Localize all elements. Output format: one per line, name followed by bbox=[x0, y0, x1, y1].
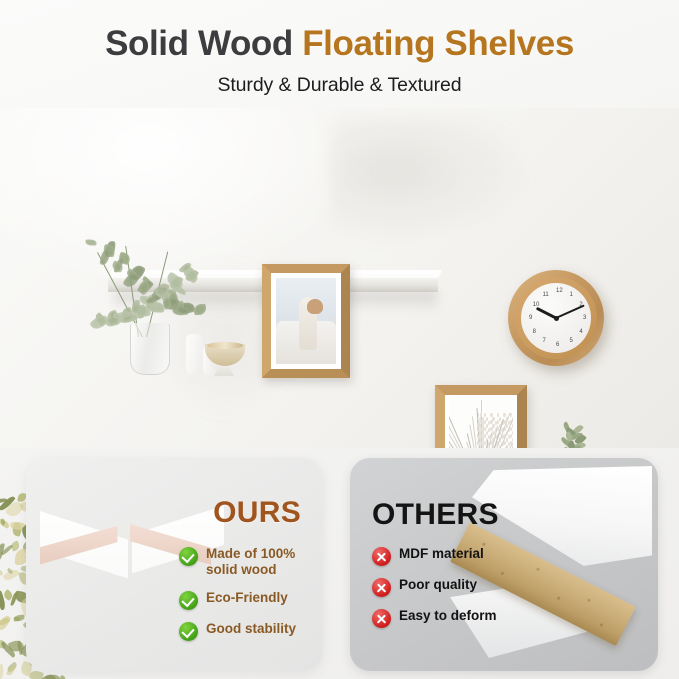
ours-bullet-text: Made of 100% solid wood bbox=[206, 546, 307, 579]
comparison-section: OURS Made of 100% solid wood Eco-Friendl… bbox=[0, 450, 679, 679]
green-check-icon bbox=[179, 622, 198, 641]
clock-hour-number: 3 bbox=[583, 315, 586, 321]
clock-hour-number: 7 bbox=[543, 338, 546, 344]
list-item: MDF material bbox=[372, 546, 532, 566]
tall-glass-vase bbox=[130, 323, 170, 375]
ours-benefit-list: Made of 100% solid wood Eco-Friendly Goo… bbox=[179, 546, 307, 652]
wooden-wall-clock: 121234567891011 bbox=[508, 270, 604, 366]
headline-part-primary: Solid Wood bbox=[105, 24, 302, 63]
clock-hour-number: 1 bbox=[570, 292, 573, 298]
foliage-leaf bbox=[14, 617, 20, 621]
others-drawback-list: MDF material Poor quality Easy to deform bbox=[372, 546, 532, 639]
photo-mat bbox=[271, 273, 341, 369]
list-item: Good stability bbox=[179, 621, 307, 641]
list-item: Easy to deform bbox=[372, 608, 532, 628]
gold-rimmed-bowl bbox=[205, 344, 245, 366]
white-vase-large bbox=[186, 334, 203, 375]
botanical-print-image bbox=[449, 399, 513, 448]
others-title: OTHERS bbox=[372, 498, 499, 532]
green-check-icon bbox=[179, 547, 198, 566]
clock-center-hub bbox=[554, 316, 559, 321]
page-subtitle: Sturdy & Durable & Textured bbox=[217, 74, 461, 97]
clock-hour-number: 11 bbox=[543, 292, 549, 298]
header: Solid Wood Floating Shelves Sturdy & Dur… bbox=[0, 0, 679, 112]
photo-figure-hair bbox=[307, 299, 323, 314]
plant-leaf bbox=[172, 305, 189, 316]
ours-bullet-text: Good stability bbox=[206, 621, 296, 637]
headline-part-accent: Floating Shelves bbox=[302, 24, 574, 63]
wall-shadow bbox=[330, 118, 540, 248]
panel-ours: OURS Made of 100% solid wood Eco-Friendl… bbox=[26, 458, 323, 671]
foliage-leaf bbox=[0, 664, 4, 679]
list-item: Made of 100% solid wood bbox=[179, 546, 307, 579]
others-bullet-text: MDF material bbox=[399, 546, 484, 562]
green-check-icon bbox=[179, 591, 198, 610]
clock-hour-number: 6 bbox=[556, 342, 559, 348]
page-title: Solid Wood Floating Shelves bbox=[105, 26, 574, 63]
ours-bullet-text: Eco-Friendly bbox=[206, 590, 288, 606]
list-item: Poor quality bbox=[372, 577, 532, 597]
red-cross-icon bbox=[372, 547, 391, 566]
hero-lifestyle-scene: 121234567891011 bbox=[0, 108, 679, 448]
botanical-seed bbox=[512, 424, 513, 428]
ours-title: OURS bbox=[213, 496, 301, 530]
clock-hour-number: 5 bbox=[570, 338, 573, 344]
plant-leaf bbox=[86, 240, 97, 246]
red-cross-icon bbox=[372, 609, 391, 628]
list-item: Eco-Friendly bbox=[179, 590, 307, 610]
foliage-leaf bbox=[45, 674, 60, 679]
wood-framed-portrait-photo bbox=[262, 264, 350, 378]
bud-vase-greenery bbox=[563, 422, 577, 448]
clock-hour-number: 8 bbox=[533, 329, 536, 335]
others-bullet-text: Easy to deform bbox=[399, 608, 497, 624]
botanical-seed bbox=[512, 431, 513, 435]
red-cross-icon bbox=[372, 578, 391, 597]
portrait-photo-image bbox=[276, 278, 336, 364]
product-infographic: Solid Wood Floating Shelves Sturdy & Dur… bbox=[0, 0, 679, 679]
clock-hour-number: 9 bbox=[529, 315, 532, 321]
wood-framed-botanical-print bbox=[435, 385, 527, 448]
plant-leaf bbox=[99, 249, 110, 266]
clock-hour-number: 4 bbox=[579, 329, 582, 335]
clock-hour-number: 12 bbox=[556, 288, 563, 294]
panel-others: OTHERS MDF material Poor quality Easy to… bbox=[350, 458, 658, 671]
others-bullet-text: Poor quality bbox=[399, 577, 477, 593]
